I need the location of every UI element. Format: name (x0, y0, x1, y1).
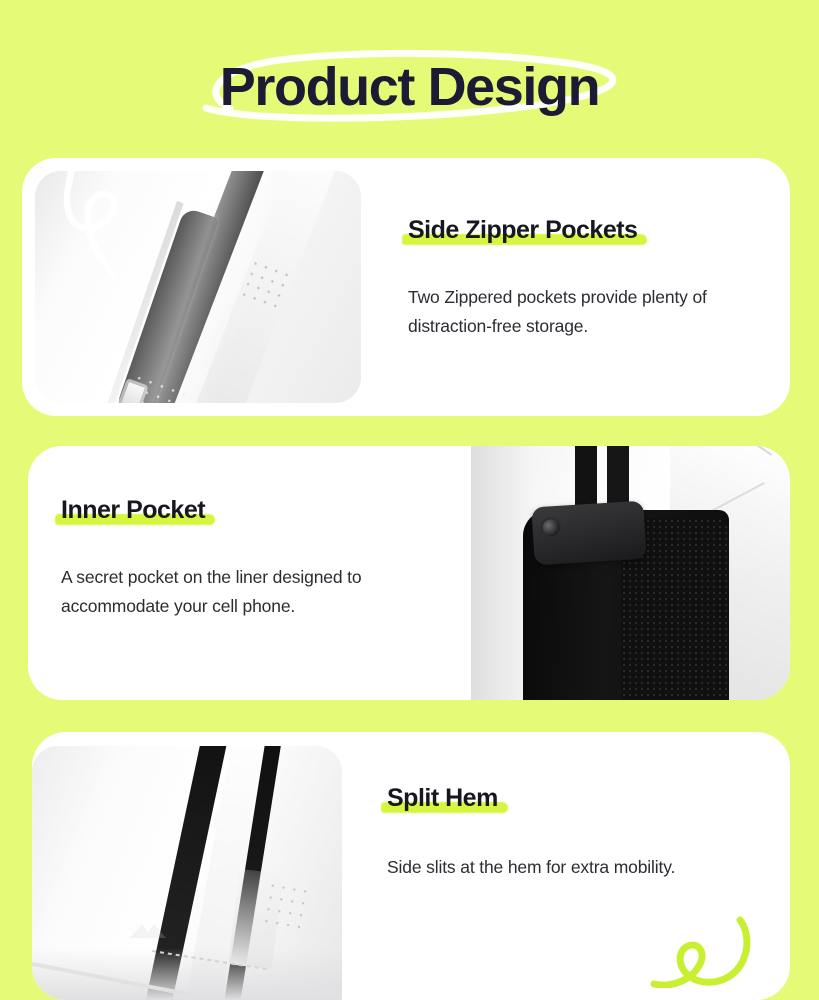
phone-in-pocket (531, 501, 646, 566)
feature-text-inner-pocket: Inner Pocket A secret pocket on the line… (61, 496, 451, 621)
feature-description: Two Zippered pockets provide plenty of d… (408, 283, 778, 341)
feature-heading-label: Split Hem (387, 784, 498, 812)
feature-image-split-hem (32, 746, 342, 1000)
feature-heading: Inner Pocket (61, 496, 205, 525)
feature-text-split-hem: Split Hem Side slits at the hem for extr… (387, 784, 767, 882)
feature-text-side-zipper-pockets: Side Zipper Pockets Two Zippered pockets… (408, 216, 778, 341)
feature-heading-label: Side Zipper Pockets (408, 216, 637, 244)
page-title: Product Design (220, 44, 599, 130)
feature-card-inner-pocket: Inner Pocket A secret pocket on the line… (28, 446, 790, 700)
feature-image-inner-pocket (471, 446, 790, 700)
feature-heading: Split Hem (387, 784, 498, 813)
feature-card-split-hem: Split Hem Side slits at the hem for extr… (32, 732, 790, 1000)
page-header: Product Design (0, 44, 819, 134)
feature-heading-label: Inner Pocket (61, 496, 205, 524)
feature-heading: Side Zipper Pockets (408, 216, 637, 245)
feature-image-side-zipper-pockets (35, 171, 361, 403)
brand-logo-icon (128, 920, 168, 942)
lime-loop-doodle-icon (648, 910, 768, 988)
feature-card-side-zipper-pockets: Side Zipper Pockets Two Zippered pockets… (22, 158, 790, 416)
phone-camera-icon (540, 517, 562, 539)
feature-description: A secret pocket on the liner designed to… (61, 563, 451, 621)
feature-description: Side slits at the hem for extra mobility… (387, 853, 767, 882)
